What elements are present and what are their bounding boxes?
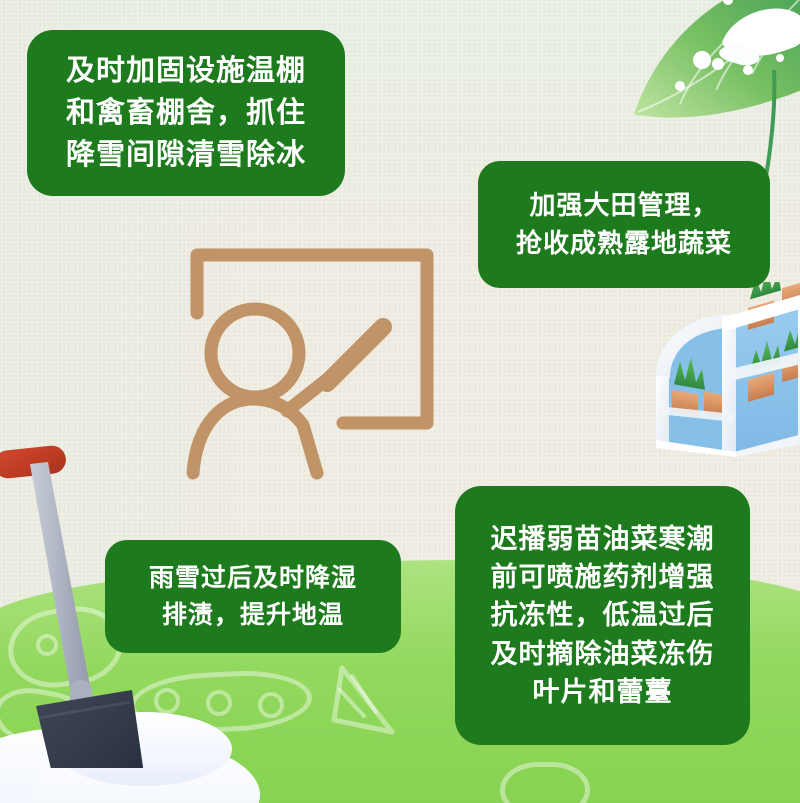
info-card-3-text: 雨雪过后及时降湿 排渍，提升地温: [149, 560, 357, 633]
greenhouse-icon: [650, 282, 800, 457]
info-card-drainage[interactable]: 雨雪过后及时降湿 排渍，提升地温: [105, 540, 401, 653]
info-card-greenhouse-reinforcement[interactable]: 及时加固设施温棚 和禽畜棚舍，抓住 降雪间隙清雪除冰: [27, 30, 345, 196]
info-card-1-text: 及时加固设施温棚 和禽畜棚舍，抓住 降雪间隙清雪除冰: [66, 50, 306, 176]
greenhouse-illustration: [650, 282, 800, 457]
info-card-2-text: 加强大田管理， 抢收成熟露地蔬菜: [516, 187, 732, 262]
whiteboard-presenter-icon: [175, 235, 455, 480]
info-card-4-text: 迟播弱苗油菜寒潮 前可喷施药剂增强 抗冻性，低温过后 及时摘除油菜冻伤 叶片和蕾…: [491, 520, 715, 712]
info-card-rapeseed-frost-protection[interactable]: 迟播弱苗油菜寒潮 前可喷施药剂增强 抗冻性，低温过后 及时摘除油菜冻伤 叶片和蕾…: [455, 486, 750, 745]
teacher-at-whiteboard-illustration: [175, 235, 455, 480]
info-card-field-management[interactable]: 加强大田管理， 抢收成熟露地蔬菜: [478, 161, 770, 288]
infographic-poster: 及时加固设施温棚 和禽畜棚舍，抓住 降雪间隙清雪除冰 加强大田管理， 抢收成熟露…: [0, 0, 800, 803]
greenhouse-center-post: [722, 314, 736, 456]
